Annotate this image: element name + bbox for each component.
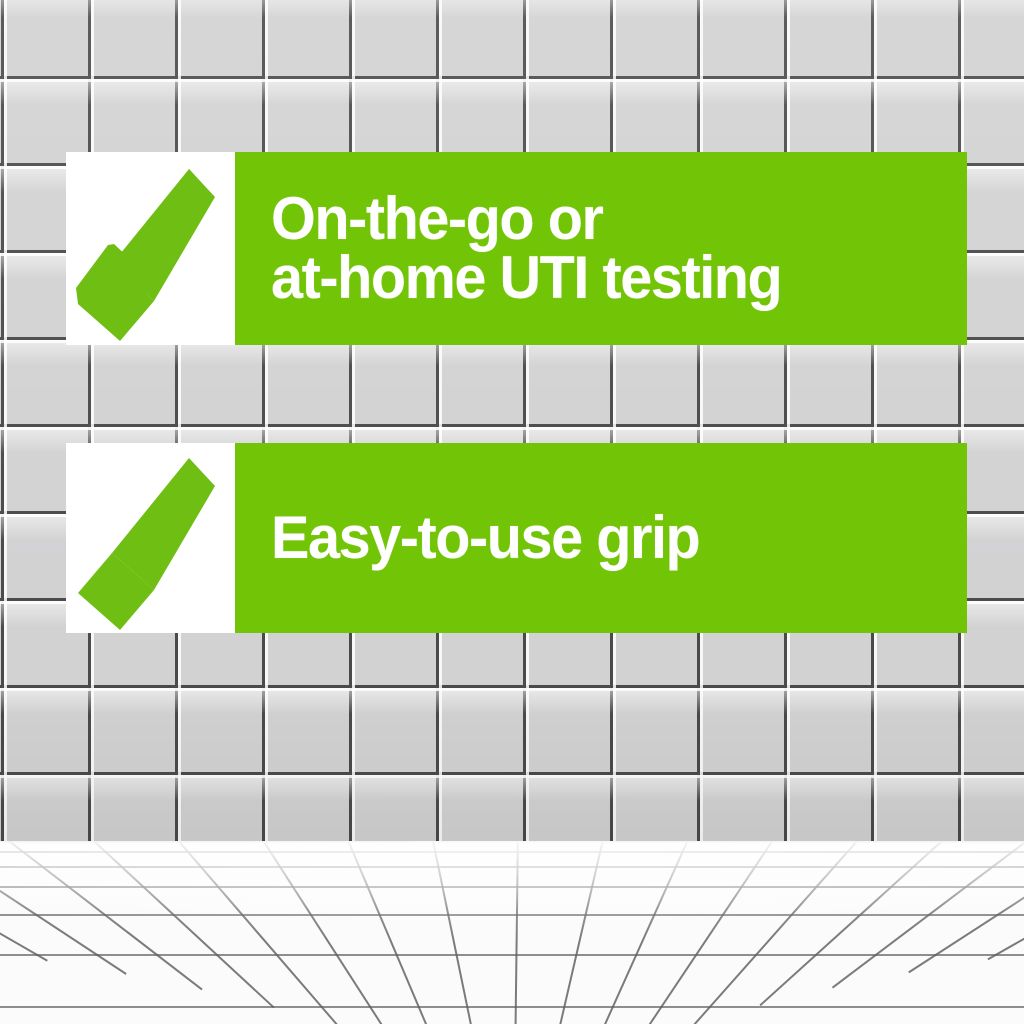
floor-grout-line-vertical (514, 841, 519, 1024)
floor-grout-line-horizontal (0, 886, 1024, 888)
feature-banner-easy-grip: Easy-to-use grip (66, 443, 967, 633)
floor-grout-line-horizontal (0, 914, 1024, 916)
checkmark-icon (66, 152, 235, 345)
feature-label-container: On-the-go or at-home UTI testing (235, 152, 967, 345)
tiled-wall-background (0, 0, 1024, 842)
tiled-floor-background (0, 841, 1024, 1024)
floor-grout-line-vertical (430, 841, 484, 1024)
feature-label-text: Easy-to-use grip (271, 509, 699, 568)
floor-grout-line-horizontal (0, 866, 1024, 868)
floor-grout-line-vertical (343, 841, 447, 1024)
floor-grout-line-vertical (256, 841, 398, 1024)
feature-banner-on-the-go: On-the-go or at-home UTI testing (66, 152, 967, 345)
floor-wall-junction-line (0, 841, 1024, 843)
floor-grout-line-vertical (545, 841, 606, 1024)
checkmark-card (66, 443, 235, 633)
floor-grout-line-vertical (634, 841, 780, 1024)
floor-grout-line-vertical (0, 841, 48, 962)
floor-grout-line-horizontal (0, 1006, 1024, 1008)
checkmark-card (66, 152, 235, 345)
product-feature-graphic: On-the-go or at-home UTI testing Easy-to… (0, 0, 1024, 1024)
floor-grout-line-vertical (584, 841, 693, 1024)
floor-perspective-grid (0, 841, 1024, 1024)
floor-grout-line-horizontal (0, 851, 1024, 853)
checkmark-icon (66, 443, 235, 633)
feature-label-text: On-the-go or at-home UTI testing (271, 190, 781, 308)
feature-label-container: Easy-to-use grip (235, 443, 967, 633)
